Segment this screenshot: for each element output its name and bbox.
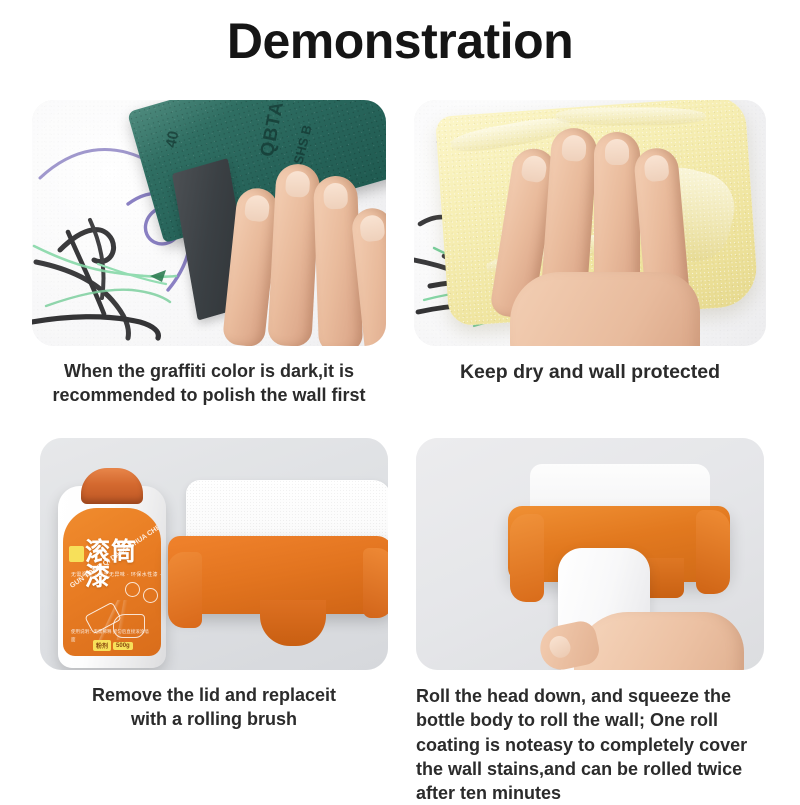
step-3-caption: Remove the lid and replaceit with a roll… — [40, 684, 388, 732]
roller-stem — [260, 600, 326, 646]
caption-line: When the graffiti color is dark,it is — [32, 360, 386, 384]
thumbnail — [546, 632, 574, 661]
roller-attachment — [168, 480, 388, 660]
label-icon-circle — [125, 582, 140, 597]
caption-line: with a rolling brush — [40, 708, 388, 732]
thumb — [536, 618, 602, 670]
step-2-caption: Keep dry and wall protected — [414, 360, 766, 386]
step-3-photo: 滚筒漆 无需调配 · 快干无异味 · 环保水性漆 · 自带滚筒刷头 GUN TO… — [40, 438, 388, 670]
label-badge — [69, 546, 84, 562]
caption-line: Remove the lid and replaceit — [40, 684, 388, 708]
caption-line: after ten minutes — [416, 781, 764, 805]
label-weight-row: 粉剂 500g — [93, 640, 133, 651]
demo-step-1: QBTAOJCC 40 SHS B JLED J — [32, 100, 386, 408]
roller-arm-right — [696, 510, 730, 594]
fingernail — [605, 139, 629, 165]
roller-arm-right — [363, 548, 388, 618]
caption-line: bottle body to roll the wall; One roll — [416, 708, 764, 732]
palm — [510, 272, 700, 346]
roller-arm-left — [510, 514, 544, 602]
fingernail — [643, 154, 669, 182]
page-title: Demonstration — [0, 14, 800, 69]
finger — [267, 163, 320, 346]
step-2-photo — [414, 100, 766, 346]
caption-line: the wall stains,and can be rolled twice — [416, 757, 764, 781]
hand-holding-block — [224, 146, 386, 346]
caption-line: recommended to polish the wall first — [32, 384, 386, 408]
caption-line: Keep dry and wall protected — [414, 360, 766, 386]
palm — [574, 612, 744, 670]
demo-step-2: Keep dry and wall protected — [414, 100, 766, 386]
fingernail — [285, 170, 310, 197]
fingernail — [359, 214, 386, 242]
step-4-caption: Roll the head down, and squeeze the bott… — [416, 684, 764, 805]
paint-bottle: 滚筒漆 无需调配 · 快干无异味 · 环保水性漆 · 自带滚筒刷头 GUN TO… — [58, 468, 166, 668]
demo-step-3: 滚筒漆 无需调配 · 快干无异味 · 环保水性漆 · 自带滚筒刷头 GUN TO… — [40, 438, 388, 732]
demonstration-page: Demonstration QBTAOJCC — [0, 0, 800, 800]
roller-arm-left — [168, 552, 202, 628]
label-weight-value: 500g — [113, 642, 133, 650]
caption-line: coating is noteasy to completely cover — [416, 733, 764, 757]
fingernail — [561, 134, 587, 162]
hand-wiping — [500, 122, 715, 346]
fingernail — [520, 154, 548, 183]
bottle-label: 滚筒漆 无需调配 · 快干无异味 · 环保水性漆 · 自带滚筒刷头 GUN TO… — [63, 508, 161, 656]
step-4-photo — [416, 438, 764, 670]
step-1-photo: QBTAOJCC 40 SHS B JLED J — [32, 100, 386, 346]
bottle-cap — [81, 468, 143, 504]
step-1-caption: When the graffiti color is dark,it is re… — [32, 360, 386, 408]
label-weight-badge: 粉剂 — [93, 640, 111, 651]
hand-squeezing-bottle — [534, 594, 744, 670]
demo-step-4: Roll the head down, and squeeze the bott… — [416, 438, 764, 805]
fingernail — [244, 194, 271, 222]
caption-line: Roll the head down, and squeeze the — [416, 684, 764, 708]
fingernail — [323, 183, 348, 210]
